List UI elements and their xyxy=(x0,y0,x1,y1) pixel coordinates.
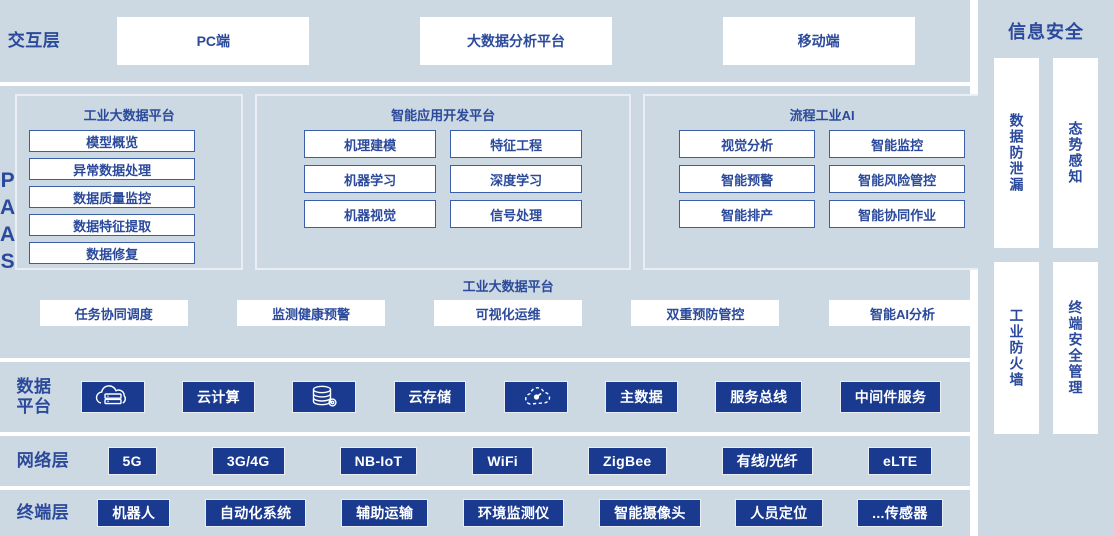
terminal-item-smart-camera[interactable]: 智能摄像头 xyxy=(599,499,701,527)
data-platform-item-cloud-storage[interactable]: 云存储 xyxy=(394,381,467,413)
security-item-terminal-security-management[interactable]: 终端安全管理 xyxy=(1053,262,1098,434)
security-lower-group: 工业防火墙 终端安全管理 xyxy=(994,262,1098,434)
terminal-layer-items: 机器人 自动化系统 辅助运输 环境监测仪 智能摄像头 人员定位 ...传感器 xyxy=(80,499,970,527)
paas-group-items: 视觉分析 智能监控 智能预警 智能风险管控 智能排产 智能协同作业 xyxy=(657,130,987,228)
paas-item-signal-processing[interactable]: 信号处理 xyxy=(450,200,582,228)
architecture-diagram: 交互层 PC端 大数据分析平台 移动端 P A A S 工业大数据平台 模型概览… xyxy=(0,0,1114,536)
network-item-nb-iot[interactable]: NB-IoT xyxy=(340,447,418,475)
paas-bottom-section: 工业大数据平台 任务协同调度 监测健康预警 可视化运维 双重预防管控 智能AI分… xyxy=(15,276,1001,326)
paas-item-visual-analysis[interactable]: 视觉分析 xyxy=(679,130,815,158)
paas-item-machine-vision[interactable]: 机器视觉 xyxy=(304,200,436,228)
paas-item-machine-learning[interactable]: 机器学习 xyxy=(304,165,436,193)
paas-group-industrial-bigdata-platform: 工业大数据平台 模型概览 异常数据处理 数据质量监控 数据特征提取 数据修复 xyxy=(15,94,243,270)
paas-item-anomaly-data-processing[interactable]: 异常数据处理 xyxy=(29,158,195,180)
terminal-item-personnel-positioning[interactable]: 人员定位 xyxy=(735,499,822,527)
network-layer: 网络层 5G 3G/4G NB-IoT WiFi ZigBee 有线/光纤 eL… xyxy=(0,436,970,486)
paas-bottom-item-task-collaborative-scheduling[interactable]: 任务协同调度 xyxy=(40,300,188,326)
interaction-layer: 交互层 PC端 大数据分析平台 移动端 xyxy=(0,0,970,82)
paas-letter-a1: A xyxy=(0,195,15,222)
paas-letter-a2: A xyxy=(0,222,15,249)
interaction-item-mobile[interactable]: 移动端 xyxy=(723,17,915,65)
interaction-layer-items: PC端 大数据分析平台 移动端 xyxy=(62,0,970,82)
paas-item-intelligent-risk-control[interactable]: 智能风险管控 xyxy=(829,165,965,193)
terminal-item-sensors[interactable]: ...传感器 xyxy=(857,499,942,527)
data-platform-item-master-data[interactable]: 主数据 xyxy=(605,381,678,413)
network-layer-items: 5G 3G/4G NB-IoT WiFi ZigBee 有线/光纤 eLTE xyxy=(80,447,970,475)
paas-item-mechanism-modeling[interactable]: 机理建模 xyxy=(304,130,436,158)
paas-item-model-overview[interactable]: 模型概览 xyxy=(29,130,195,152)
paas-bottom-item-health-monitoring-warning[interactable]: 监测健康预警 xyxy=(237,300,385,326)
interaction-item-bigdata-analytics[interactable]: 大数据分析平台 xyxy=(420,17,612,65)
cloud-network-icon xyxy=(504,381,568,413)
paas-bottom-title: 工业大数据平台 xyxy=(15,276,1001,295)
network-item-wired-fiber[interactable]: 有线/光纤 xyxy=(722,447,813,475)
terminal-item-auxiliary-transport[interactable]: 辅助运输 xyxy=(341,499,428,527)
paas-bottom-item-visual-operations[interactable]: 可视化运维 xyxy=(434,300,582,326)
information-security-panel: 信息安全 数据防泄漏 态势感知 工业防火墙 终端安全管理 xyxy=(978,0,1114,536)
paas-item-data-repair[interactable]: 数据修复 xyxy=(29,242,195,264)
paas-letter-p: P xyxy=(1,168,15,195)
interaction-layer-label: 交互层 xyxy=(0,31,62,51)
data-platform-label-line2: 平台 xyxy=(6,397,62,417)
network-item-wifi[interactable]: WiFi xyxy=(472,447,533,475)
paas-group-items: 机理建模 特征工程 机器学习 深度学习 机器视觉 信号处理 xyxy=(269,130,617,228)
network-item-zigbee[interactable]: ZigBee xyxy=(588,447,666,475)
paas-item-intelligent-scheduling[interactable]: 智能排产 xyxy=(679,200,815,228)
interaction-item-pc[interactable]: PC端 xyxy=(117,17,309,65)
terminal-layer: 终端层 机器人 自动化系统 辅助运输 环境监测仪 智能摄像头 人员定位 ...传… xyxy=(0,490,970,536)
paas-group-title: 工业大数据平台 xyxy=(29,105,229,124)
paas-letter-s: S xyxy=(1,249,15,276)
paas-group-items: 模型概览 异常数据处理 数据质量监控 数据特征提取 数据修复 xyxy=(29,130,229,264)
cloud-server-icon xyxy=(81,381,145,413)
paas-group-intelligent-app-dev-platform: 智能应用开发平台 机理建模 特征工程 机器学习 深度学习 机器视觉 信号处理 xyxy=(255,94,631,270)
database-gear-icon xyxy=(292,381,356,413)
paas-bottom-item-intelligent-ai-analysis[interactable]: 智能AI分析 xyxy=(829,300,977,326)
data-platform-layer: 数据 平台 云计算 xyxy=(0,362,970,432)
paas-group-process-industry-ai: 流程工业AI 视觉分析 智能监控 智能预警 智能风险管控 智能排产 智能协同作业 xyxy=(643,94,1001,270)
data-platform-items: 云计算 云存储 主数据 服务总 xyxy=(62,381,970,413)
paas-groups: 工业大数据平台 模型概览 异常数据处理 数据质量监控 数据特征提取 数据修复 智… xyxy=(15,94,1001,270)
data-platform-item-middleware-service[interactable]: 中间件服务 xyxy=(840,381,942,413)
terminal-layer-label: 终端层 xyxy=(0,503,80,523)
information-security-title: 信息安全 xyxy=(1008,18,1084,44)
security-item-data-leak-prevention[interactable]: 数据防泄漏 xyxy=(994,58,1039,248)
security-item-situational-awareness[interactable]: 态势感知 xyxy=(1053,58,1098,248)
paas-item-intelligent-early-warning[interactable]: 智能预警 xyxy=(679,165,815,193)
paas-group-title: 智能应用开发平台 xyxy=(269,105,617,124)
paas-layer: P A A S 工业大数据平台 模型概览 异常数据处理 数据质量监控 数据特征提… xyxy=(0,86,970,358)
network-item-3g-4g[interactable]: 3G/4G xyxy=(212,447,285,475)
paas-item-intelligent-collaborative-work[interactable]: 智能协同作业 xyxy=(829,200,965,228)
security-item-industrial-firewall[interactable]: 工业防火墙 xyxy=(994,262,1039,434)
data-platform-layer-label: 数据 平台 xyxy=(0,377,62,416)
paas-item-deep-learning[interactable]: 深度学习 xyxy=(450,165,582,193)
paas-body: 工业大数据平台 模型概览 异常数据处理 数据质量监控 数据特征提取 数据修复 智… xyxy=(15,86,1011,358)
paas-layer-label: P A A S xyxy=(0,86,15,358)
data-platform-item-service-bus[interactable]: 服务总线 xyxy=(715,381,802,413)
paas-bottom-item-dual-prevention-control[interactable]: 双重预防管控 xyxy=(631,300,779,326)
network-item-elte[interactable]: eLTE xyxy=(868,447,932,475)
terminal-item-robot[interactable]: 机器人 xyxy=(97,499,170,527)
data-platform-item-cloud-computing[interactable]: 云计算 xyxy=(182,381,255,413)
network-item-5g[interactable]: 5G xyxy=(108,447,157,475)
paas-item-intelligent-monitoring[interactable]: 智能监控 xyxy=(829,130,965,158)
paas-item-data-quality-monitoring[interactable]: 数据质量监控 xyxy=(29,186,195,208)
paas-item-feature-engineering[interactable]: 特征工程 xyxy=(450,130,582,158)
terminal-item-automation-system[interactable]: 自动化系统 xyxy=(205,499,307,527)
paas-group-title: 流程工业AI xyxy=(657,105,987,124)
network-layer-label: 网络层 xyxy=(0,451,80,471)
paas-bottom-items: 任务协同调度 监测健康预警 可视化运维 双重预防管控 智能AI分析 xyxy=(15,300,1001,326)
terminal-item-environment-monitor[interactable]: 环境监测仪 xyxy=(463,499,565,527)
data-platform-label-line1: 数据 xyxy=(6,377,62,397)
security-upper-group: 数据防泄漏 态势感知 xyxy=(994,58,1098,248)
paas-item-data-feature-extraction[interactable]: 数据特征提取 xyxy=(29,214,195,236)
